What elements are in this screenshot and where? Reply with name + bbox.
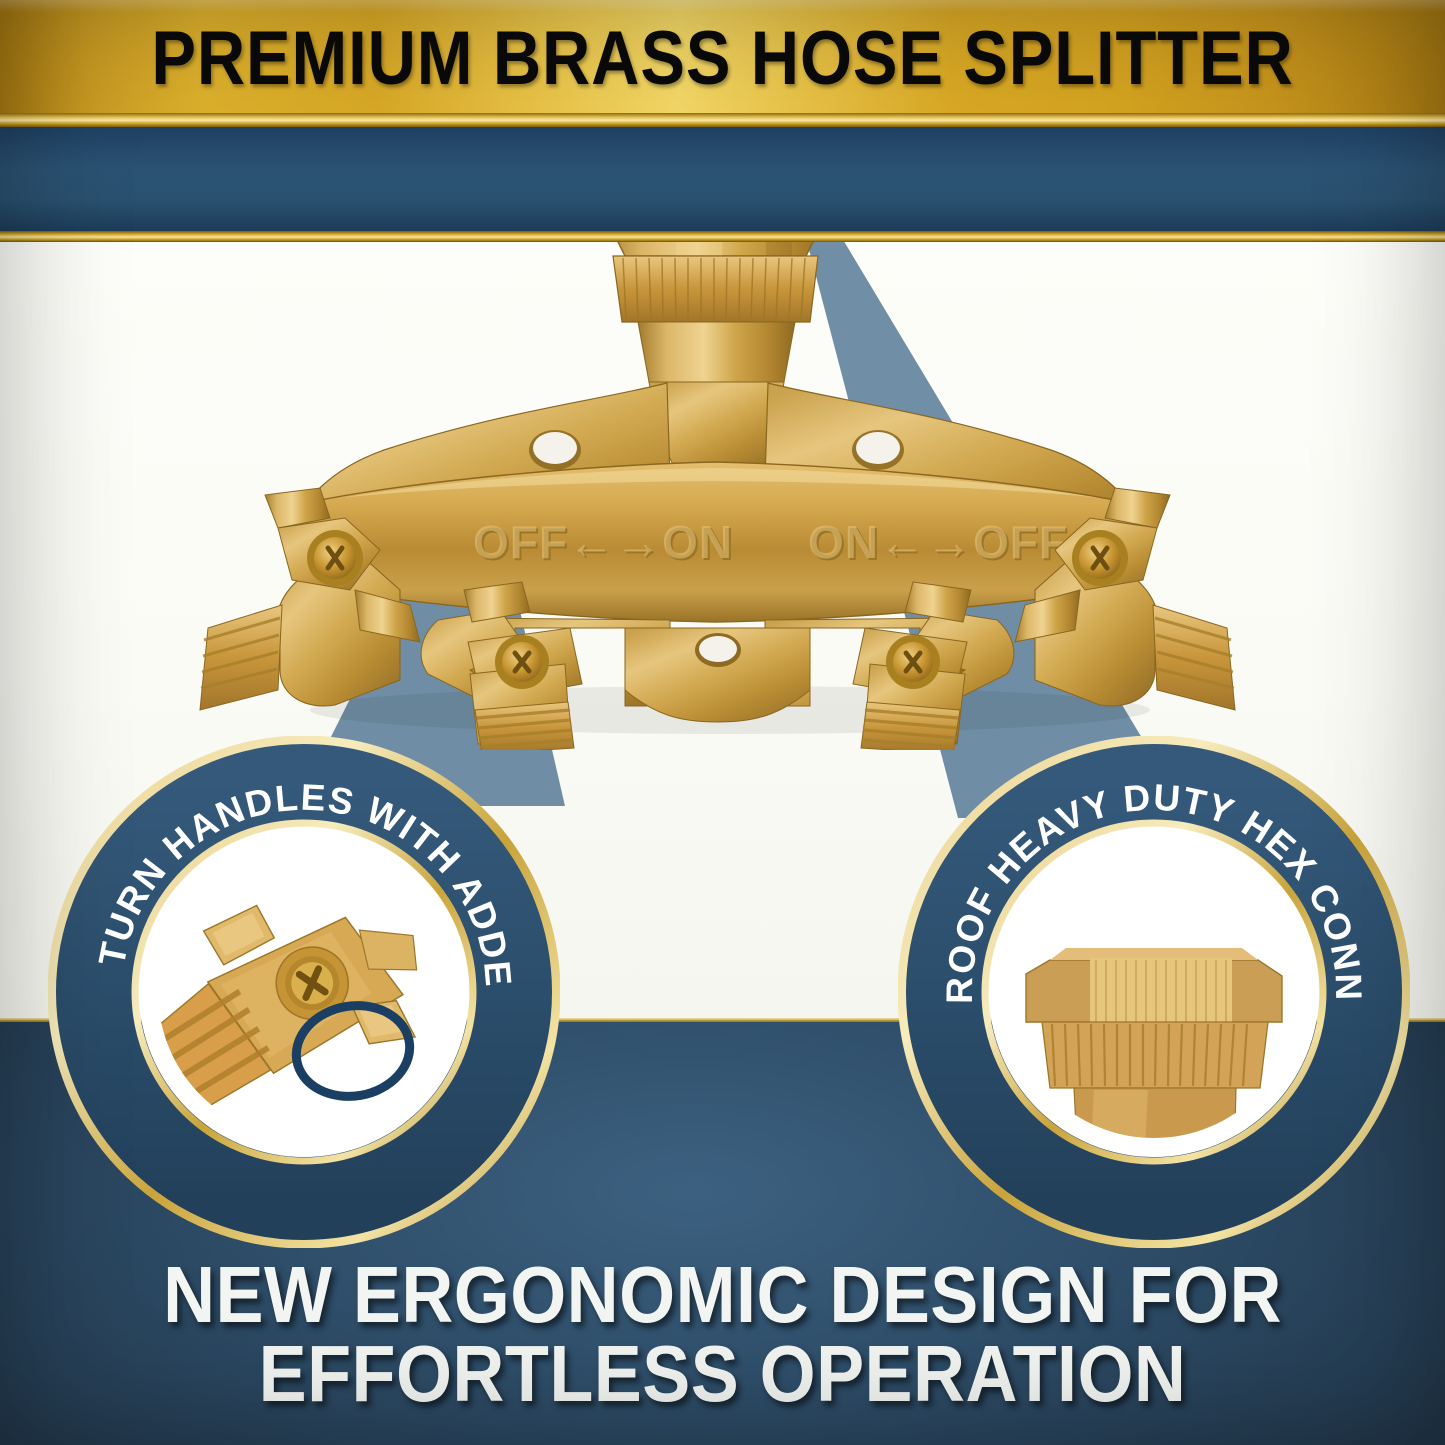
callout-badge-handles: EASY TO TURN HANDLES WITH ADDED GRIPS [48,736,560,1248]
callout-badge-hex: LEAK-PROOF HEAVY DUTY HEX CONNECTION [898,736,1410,1248]
svg-text:OFF←→ON: OFF←→ON [473,516,733,568]
svg-text:ON←→OFF: ON←→OFF [808,516,1068,568]
footer-tagline-line1: NEW ERGONOMIC DESIGN FOR [72,1255,1373,1334]
footer-tagline: NEW ERGONOMIC DESIGN FOR EFFORTLESS OPER… [0,1255,1445,1413]
page-title: PREMIUM BRASS HOSE SPLITTER [87,12,1359,104]
product-infographic: OFF←→ON OFF←→ON ON←→OFF ON←→OFF [0,0,1445,1445]
header-blue-band [0,127,1445,231]
header-gold-rule [0,113,1445,127]
header-gold-rule-lower [0,231,1445,242]
footer-tagline-line2: EFFORTLESS OPERATION [72,1334,1373,1413]
